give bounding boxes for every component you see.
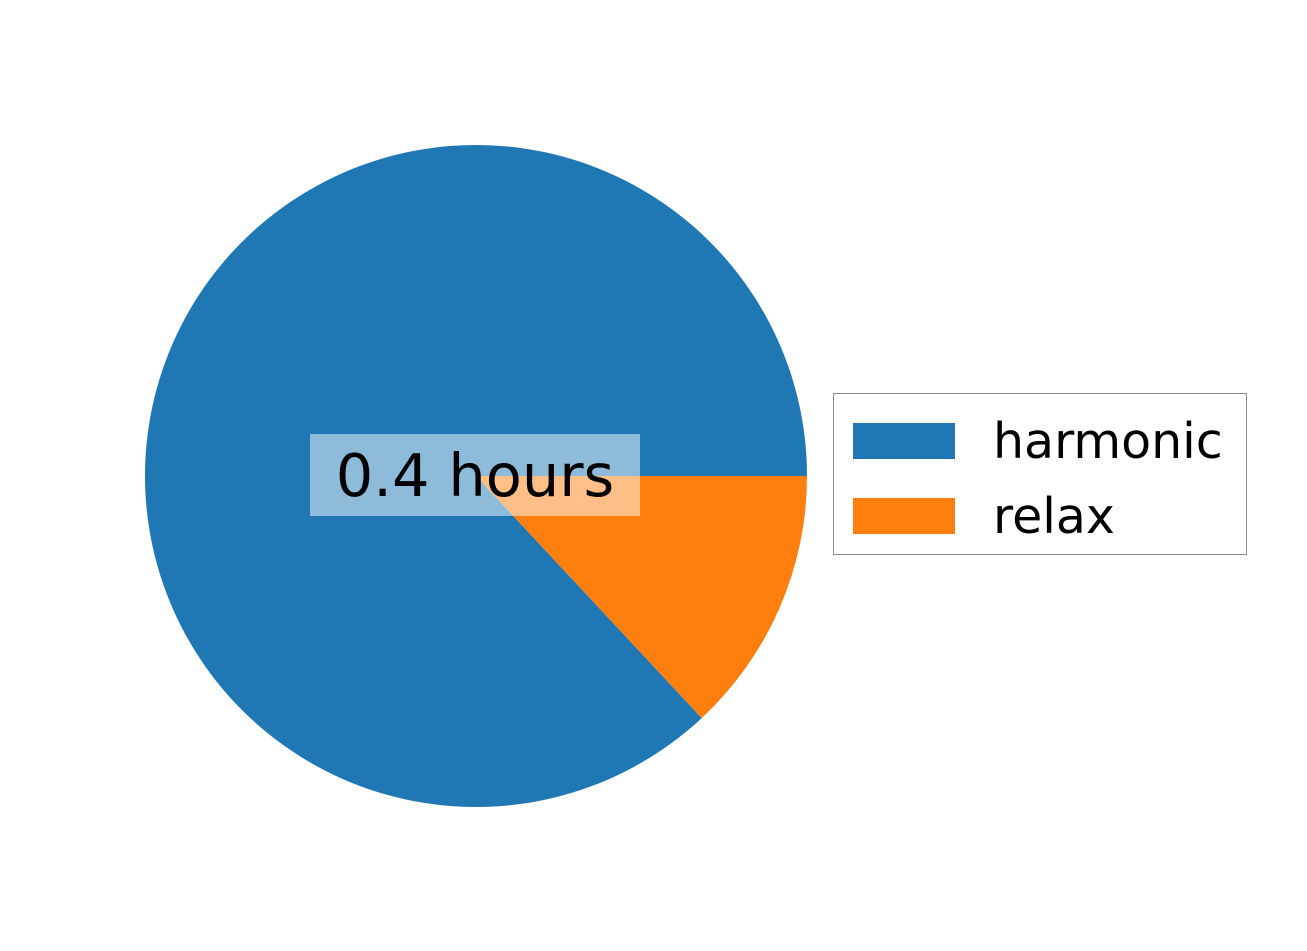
legend-item-harmonic[interactable]: harmonic [834, 412, 1246, 470]
pie-center-value-label: 0.4 hours [310, 434, 640, 516]
legend-item-relax[interactable]: relax [834, 487, 1246, 545]
legend-label-harmonic: harmonic [993, 417, 1223, 466]
pie-center-value-text: 0.4 hours [336, 446, 614, 505]
legend-label-relax: relax [993, 492, 1115, 541]
chart-legend: harmonic relax [833, 393, 1247, 555]
pie-chart-figure: 0.4 hours harmonic relax [0, 0, 1307, 951]
legend-swatch-harmonic [853, 423, 955, 459]
legend-swatch-relax [853, 498, 955, 534]
